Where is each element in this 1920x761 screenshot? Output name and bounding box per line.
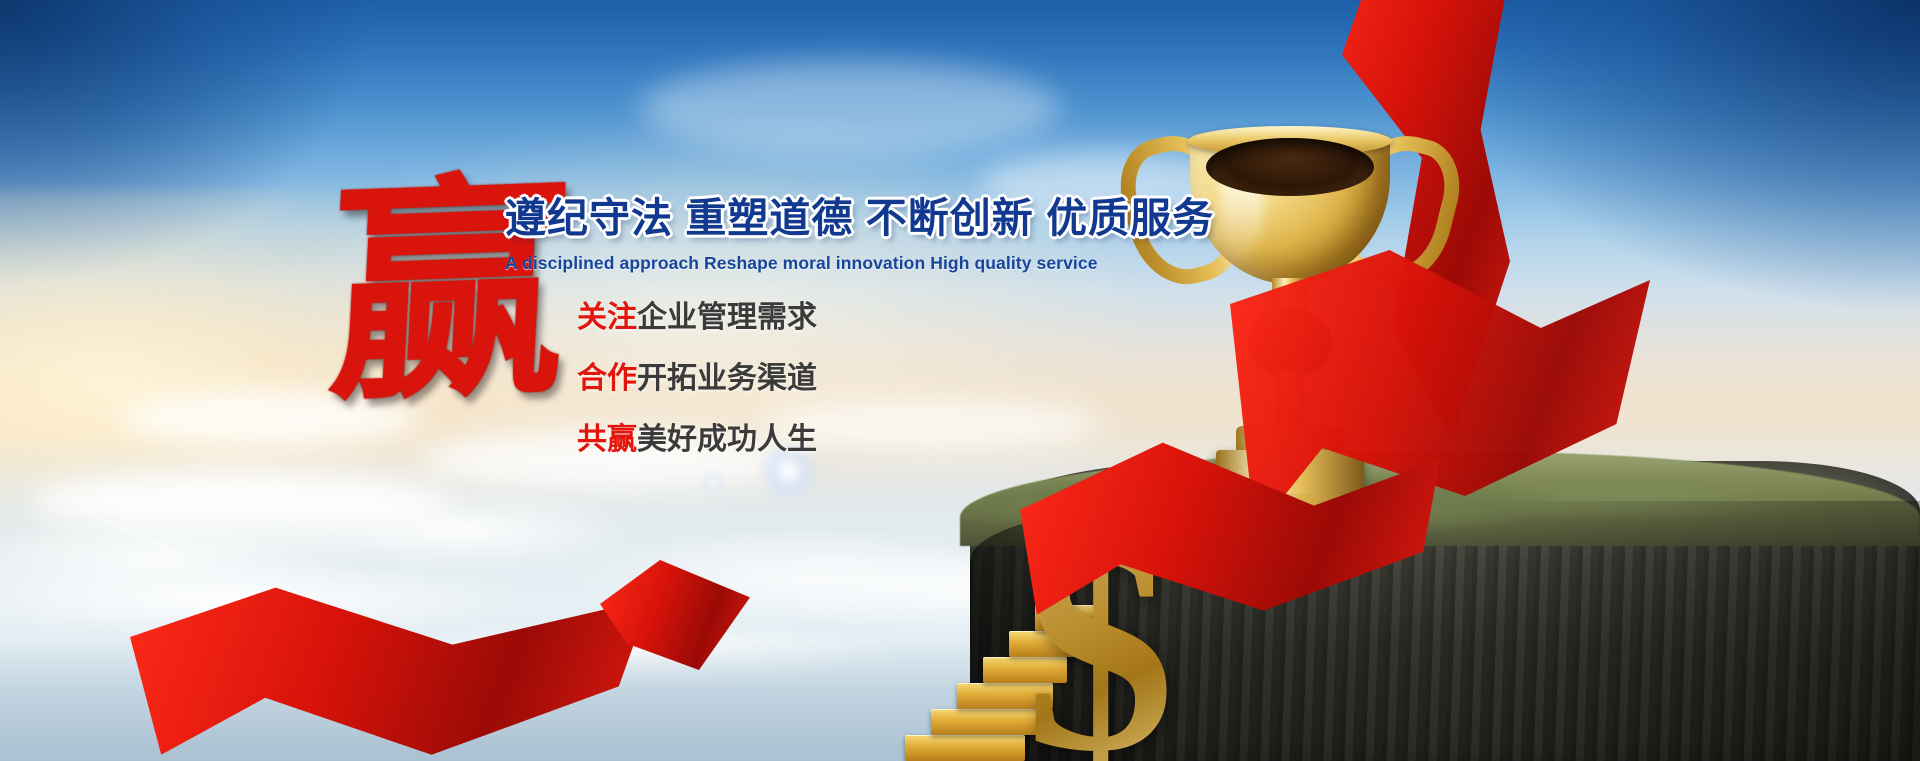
promotional-banner: $ 赢 遵纪守法 重塑道德 不断创新 优质服务 A disciplined ap… <box>0 0 1920 761</box>
slogan-body: 企业管理需求 <box>637 301 817 334</box>
slogan-highlight: 关注 <box>577 301 637 334</box>
cloud-wisp <box>30 470 450 534</box>
slogan-body: 美好成功人生 <box>637 423 817 456</box>
slogan-line: 关注企业管理需求 <box>577 292 1145 336</box>
slogan-highlight: 合作 <box>577 362 637 395</box>
banner-subheadline: A disciplined approach Reshape moral inn… <box>505 253 1145 274</box>
trophy-interior <box>1206 138 1374 196</box>
slogan-highlight: 共赢 <box>577 423 637 456</box>
cloud-wisp <box>640 60 1060 156</box>
slogan-line: 共赢美好成功人生 <box>577 414 1145 458</box>
slogan-line: 合作开拓业务渠道 <box>577 353 1145 397</box>
slogan-body: 开拓业务渠道 <box>637 362 817 395</box>
slogan-list: 关注企业管理需求 合作开拓业务渠道 共赢美好成功人生 <box>505 292 1145 458</box>
banner-text-block: 遵纪守法 重塑道德 不断创新 优质服务 A disciplined approa… <box>505 196 1145 475</box>
banner-headline: 遵纪守法 重塑道德 不断创新 优质服务 <box>505 196 1145 242</box>
